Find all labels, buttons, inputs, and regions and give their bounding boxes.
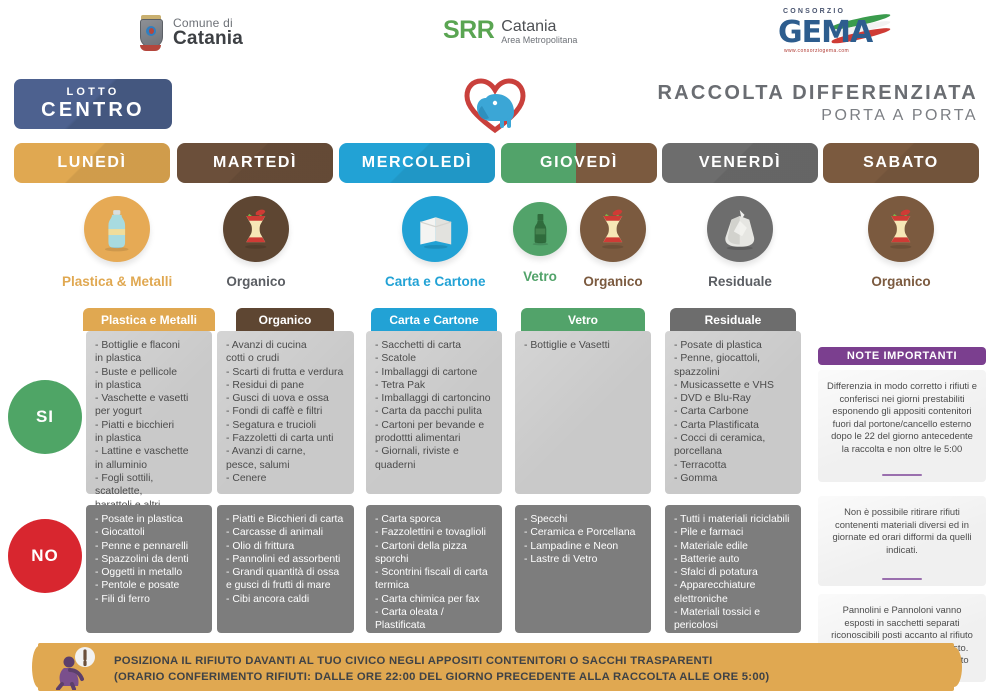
note-item-2: Non è possibile ritirare rifiuti contene… <box>818 496 986 586</box>
list-item: cotti o crudi <box>226 352 345 365</box>
glass-bottle-icon <box>513 202 567 256</box>
list-item: - Residui di pane <box>226 379 345 392</box>
list-item: - Posate in plastica <box>95 513 203 526</box>
gema-url: www.consorziogema.com <box>784 48 849 54</box>
waste-type-vetro[interactable]: Vetro <box>513 196 567 284</box>
list-item: pericolosi <box>674 619 792 632</box>
list-item: - Musicassette e VHS <box>674 379 792 392</box>
waste-type-label: Organico <box>226 274 285 289</box>
category-tab-label: Residuale <box>705 313 762 327</box>
lotto-label: LOTTO <box>66 86 119 98</box>
list-item: - Giornali, riviste e <box>375 445 493 458</box>
category-tab-organico[interactable]: Organico <box>236 308 334 331</box>
list-item: - Vaschette e vasetti <box>95 392 203 405</box>
list-item: - Lastre di Vetro <box>524 553 642 566</box>
list-item: - Cibi ancora caldi <box>226 593 345 606</box>
day-label: MERCOLEDÌ <box>362 154 472 172</box>
category-tab-plastica-e-metalli[interactable]: Plastica e Metalli <box>83 308 215 331</box>
list-item: - Fili di ferro <box>95 593 203 606</box>
list-item: in plastica <box>95 352 203 365</box>
waste-type-icon-row: Plastica & MetalliOrganicoCarta e Carton… <box>0 196 992 301</box>
list-item: - Tutti i materiali riciclabili <box>674 513 792 526</box>
waste-type-label: Residuale <box>708 274 772 289</box>
list-item: elettroniche <box>674 593 792 606</box>
no-list-vetro: - Specchi- Ceramica e Porcellana- Lampad… <box>515 505 651 633</box>
no-list-residuale: - Tutti i materiali riciclabili- Pile e … <box>665 505 801 633</box>
list-item: Plastificata <box>375 619 493 632</box>
list-item: - Ceramica e Porcellana <box>524 526 642 539</box>
list-item: - Carta sporca <box>375 513 493 526</box>
bottom-line-1: POSIZIONA IL RIFIUTO DAVANTI AL TUO CIVI… <box>114 653 769 669</box>
list-item: - Carta da pacchi pulita <box>375 405 493 418</box>
day-label: MARTEDÌ <box>213 154 297 172</box>
list-item: - Carta Plastificata <box>674 419 792 432</box>
list-item: - Piatti e bicchieri <box>95 419 203 432</box>
list-item: - Avanzi di carne, <box>226 445 345 458</box>
weekday-row: LUNEDÌMARTEDÌMERCOLEDÌGIOVEDÌVENERDÌSABA… <box>0 143 992 183</box>
no-list-organico: - Piatti e Bicchieri di carta- Carcasse … <box>217 505 354 633</box>
list-item: - Tetra Pak <box>375 379 493 392</box>
list-item: - Bottiglie e flaconi <box>95 339 203 352</box>
list-item: porcellana <box>674 445 792 458</box>
category-tab-label: Organico <box>259 313 312 327</box>
list-item: - Lampadine e Neon <box>524 540 642 553</box>
logo-bar: Comune di Catania SRR Catania Area Metro… <box>0 0 992 70</box>
list-item: - Olio di frittura <box>226 540 345 553</box>
waste-bag-icon <box>707 196 773 262</box>
paper-fold-icon <box>402 196 468 262</box>
waste-type-label: Plastica & Metalli <box>62 274 172 289</box>
si-list-organico: - Avanzi di cucinacotti o crudi- Scarti … <box>217 331 354 494</box>
waste-type-label: Vetro <box>523 269 557 284</box>
list-item: - Apparecchiature <box>674 579 792 592</box>
list-item: pesce, salumi <box>226 459 345 472</box>
comune-di-catania-logo: Comune di Catania <box>138 14 243 52</box>
lotto-zone: CENTRO <box>41 99 145 122</box>
no-badge: NO <box>8 519 82 593</box>
list-item: termica <box>375 579 493 592</box>
day-pill-giovedi[interactable]: GIOVEDÌ <box>501 143 657 183</box>
note-item-1: Differenzia in modo corretto i rifiuti e… <box>818 370 986 482</box>
list-item: in alluminio <box>95 459 203 472</box>
list-item: - Fogli sottili, scatolette, <box>95 472 203 499</box>
list-item: quaderni <box>375 459 493 472</box>
list-item: - Specchi <box>524 513 642 526</box>
category-tab-carta-e-cartone[interactable]: Carta e Cartone <box>371 308 497 331</box>
waste-type-residuale[interactable]: Residuale <box>707 196 773 289</box>
si-badge: SI <box>8 380 82 454</box>
list-item: - Bottiglie e Vasetti <box>524 339 642 352</box>
no-list-plastica-e-metalli: - Posate in plastica- Giocattoli- Penne … <box>86 505 212 633</box>
waste-type-plastica-metalli[interactable]: Plastica & Metalli <box>62 196 172 289</box>
gema-consorzio-label: CONSORZIO <box>783 8 845 15</box>
waste-type-label: Organico <box>583 274 642 289</box>
list-item: - Sfalci di potatura <box>674 566 792 579</box>
title-band: LOTTO CENTRO RACCOLTA DIFFERENZIATA PORT… <box>0 70 992 136</box>
elephant-heart-icon <box>462 76 528 134</box>
bottom-banner: POSIZIONA IL RIFIUTO DAVANTI AL TUO CIVI… <box>38 643 954 691</box>
apple-core-icon <box>580 196 646 262</box>
no-list-carta-e-cartone: - Carta sporca- Fazzolettini e tovagliol… <box>366 505 502 633</box>
list-item: - Carta Carbone <box>674 405 792 418</box>
day-pill-mercoledi[interactable]: MERCOLEDÌ <box>339 143 495 183</box>
waste-collection-calendar: Comune di Catania SRR Catania Area Metro… <box>0 0 992 700</box>
gema-logo: CONSORZIO GEMA www.consorziogema.com <box>778 8 888 56</box>
list-item: - Batterie auto <box>674 553 792 566</box>
list-item: - Cartoni per bevande e <box>375 419 493 432</box>
list-item: - Penne, giocattoli, <box>674 352 792 365</box>
list-item: e gusci di frutti di mare <box>226 579 345 592</box>
list-item: - Gomma <box>674 472 792 485</box>
day-pill-sabato[interactable]: SABATO <box>823 143 979 183</box>
lotto-badge: LOTTO CENTRO <box>14 79 172 129</box>
list-item: - Spazzolini da denti <box>95 553 203 566</box>
list-item: - Avanzi di cucina <box>226 339 345 352</box>
srr-logo: SRR Catania Area Metropolitana <box>443 18 577 45</box>
list-item: - Carcasse di animali <box>226 526 345 539</box>
apple-core-icon <box>868 196 934 262</box>
gema-wordmark: GEMA <box>778 15 872 50</box>
title-line-2: PORTA A PORTA <box>657 107 978 125</box>
si-list-carta-e-cartone: - Sacchetti di carta- Scatole- Imballagg… <box>366 331 502 494</box>
srr-subtitle: Area Metropolitana <box>501 36 577 45</box>
list-item: - Pannolini ed assorbenti <box>226 553 345 566</box>
list-item: - Gusci di uova e ossa <box>226 392 345 405</box>
category-tab-residuale[interactable]: Residuale <box>670 308 796 331</box>
list-item: - Penne e pennarelli <box>95 540 203 553</box>
list-item: - Cenere <box>226 472 345 485</box>
title-line-1: RACCOLTA DIFFERENZIATA <box>657 82 978 105</box>
bottom-banner-text: POSIZIONA IL RIFIUTO DAVANTI AL TUO CIVI… <box>114 653 769 685</box>
category-tab-label: Vetro <box>568 313 598 327</box>
catania-crest-icon <box>138 14 164 52</box>
list-item: - Imballaggi di cartoncino <box>375 392 493 405</box>
list-item: - Carta chimica per fax <box>375 593 493 606</box>
waste-type-organico[interactable]: Organico <box>223 196 289 289</box>
list-item: - Buste e pellicole <box>95 366 203 379</box>
si-list-vetro: - Bottiglie e Vasetti <box>515 331 651 494</box>
waste-type-organico[interactable]: Organico <box>868 196 934 289</box>
list-item: - Terracotta <box>674 459 792 472</box>
list-item: - Giocattoli <box>95 526 203 539</box>
list-item: sporchi <box>375 553 493 566</box>
list-item: - Scontrini fiscali di carta <box>375 566 493 579</box>
category-tab-label: Carta e Cartone <box>389 313 478 327</box>
category-tab-vetro[interactable]: Vetro <box>521 308 645 331</box>
list-item: spazzolini <box>674 366 792 379</box>
list-item: - Lattine e vaschette <box>95 445 203 458</box>
person-exclamation-icon <box>52 646 108 690</box>
list-item: - Segatura e trucioli <box>226 419 345 432</box>
list-item: - Piatti e Bicchieri di carta <box>226 513 345 526</box>
note-importanti-header: NOTE IMPORTANTI <box>818 347 986 365</box>
category-tab-label: Plastica e Metalli <box>101 313 197 327</box>
waste-type-organico[interactable]: Organico <box>580 196 646 289</box>
day-pill-venerdi[interactable]: VENERDÌ <box>662 143 818 183</box>
list-item: - Materiali tossici e <box>674 606 792 619</box>
catania-label: Catania <box>173 29 243 49</box>
day-label: LUNEDÌ <box>57 154 126 172</box>
list-item: - Fondi di caffè e filtri <box>226 405 345 418</box>
list-item: in plastica <box>95 379 203 392</box>
waste-type-label: Organico <box>871 274 930 289</box>
si-list-residuale: - Posate di plastica- Penne, giocattoli,… <box>665 331 801 494</box>
list-item: - Pentole e posate <box>95 579 203 592</box>
list-item: - Scarti di frutta e verdura <box>226 366 345 379</box>
waste-type-label: Carta e Cartone <box>385 274 486 289</box>
list-item: - Fazzolettini e tovaglioli <box>375 526 493 539</box>
list-item: - Scatole <box>375 352 493 365</box>
bottom-line-2: (ORARIO CONFERIMENTO RIFIUTI: DALLE ORE … <box>114 669 769 685</box>
list-item: - Grandi quantità di ossa <box>226 566 345 579</box>
list-item: - Materiale edile <box>674 540 792 553</box>
list-item: - Carta oleata / <box>375 606 493 619</box>
waste-type-carta-e-cartone[interactable]: Carta e Cartone <box>385 196 486 289</box>
srr-city: Catania <box>501 19 577 36</box>
list-item: - Sacchetti di carta <box>375 339 493 352</box>
apple-core-icon <box>223 196 289 262</box>
list-item: in plastica <box>95 432 203 445</box>
srr-mark: SRR <box>443 18 494 43</box>
day-label: SABATO <box>863 154 939 172</box>
day-label: GIOVEDÌ <box>540 154 618 172</box>
list-item: per yogurt <box>95 405 203 418</box>
page-title: RACCOLTA DIFFERENZIATA PORTA A PORTA <box>657 82 978 125</box>
list-item: - Cartoni della pizza <box>375 540 493 553</box>
day-pill-lunedi[interactable]: LUNEDÌ <box>14 143 170 183</box>
list-item: - Cocci di ceramica, <box>674 432 792 445</box>
si-list-plastica-e-metalli: - Bottiglie e flaconiin plastica- Buste … <box>86 331 212 494</box>
list-item: - Fazzoletti di carta unti <box>226 432 345 445</box>
day-label: VENERDÌ <box>699 154 781 172</box>
list-item: - Posate di plastica <box>674 339 792 352</box>
list-item: - Pile e farmaci <box>674 526 792 539</box>
day-pill-martedi[interactable]: MARTEDÌ <box>177 143 333 183</box>
list-item: prodottti alimentari <box>375 432 493 445</box>
list-item: - DVD e Blu-Ray <box>674 392 792 405</box>
list-item: - Oggetti in metallo <box>95 566 203 579</box>
plastic-bottle-icon <box>84 196 150 262</box>
list-item: - Imballaggi di cartone <box>375 366 493 379</box>
